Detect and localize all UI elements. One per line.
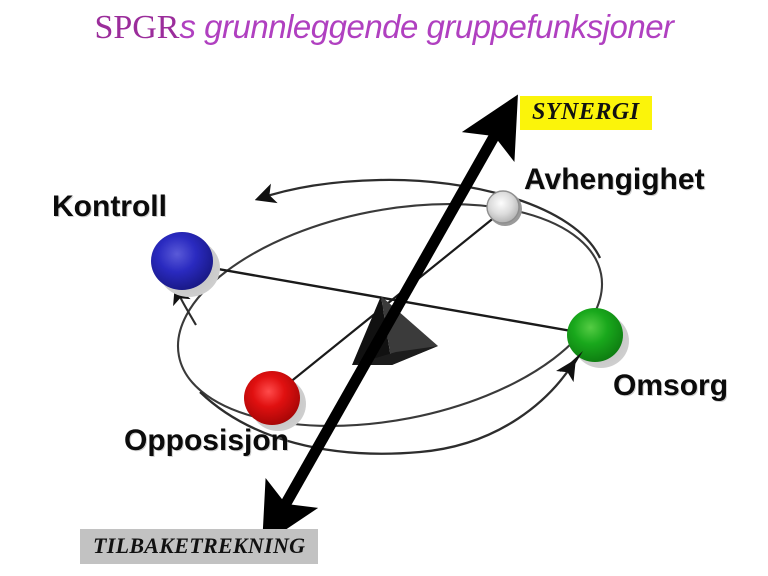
node-label-kontroll: Kontroll xyxy=(52,190,167,224)
node-avhengighet[interactable] xyxy=(487,191,522,226)
diagram-canvas: SPGRs grunnleggende gruppefunksjoner xyxy=(0,0,768,576)
node-kontroll[interactable] xyxy=(151,232,220,297)
node-label-avhengighet: Avhengighet xyxy=(524,163,705,197)
spgr-diagram xyxy=(0,0,768,576)
node-opposisjon[interactable] xyxy=(244,371,306,431)
axis-synergi-tilbaketrekning xyxy=(272,112,508,528)
node-label-opposisjon: Opposisjon xyxy=(124,424,289,458)
node-label-omsorg: Omsorg xyxy=(613,369,728,403)
pole-tag-synergi: SYNERGI xyxy=(520,96,652,130)
pole-tag-tilbaketrekning: TILBAKETREKNING xyxy=(80,529,318,564)
